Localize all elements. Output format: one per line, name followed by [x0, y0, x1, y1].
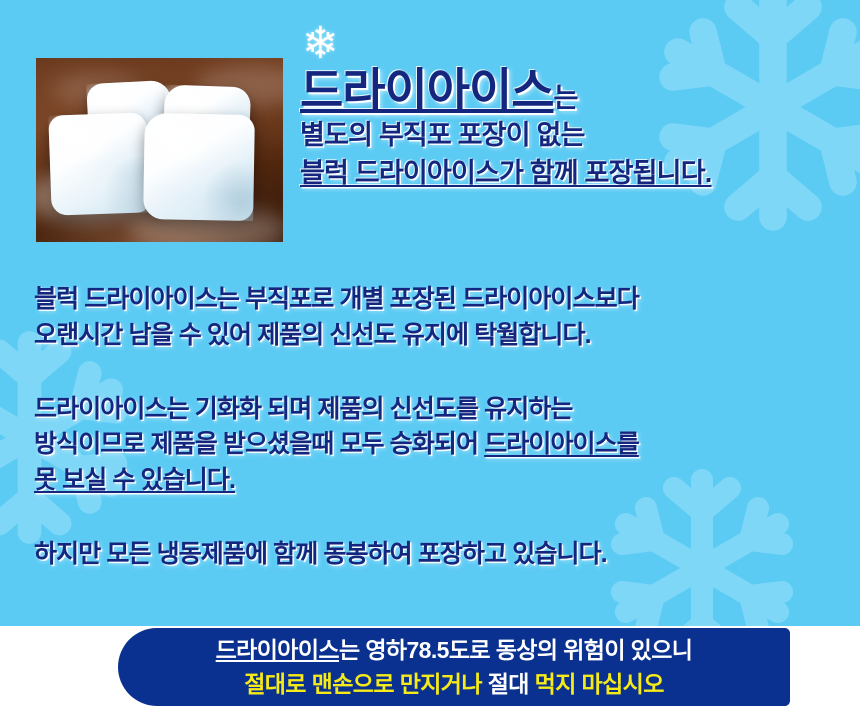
banner-background: ❄ 드라이아이스는 별도의 부직포 포장이 없는 블럭 드라이아이스가 함께 포… [0, 0, 860, 626]
warning-text: 절대로 맨손으로 만지거나 [244, 671, 488, 697]
body-text: 방식이므로 제품을 받으셨을때 모두 승화되어 [34, 430, 484, 458]
body-text-underlined: 드라이아이스를 [484, 430, 639, 458]
header-block: ❄ 드라이아이스는 별도의 부직포 포장이 없는 블럭 드라이아이스가 함께 포… [300, 24, 711, 192]
warning-line-2: 절대로 맨손으로 만지거나 절대 먹지 마십시오 [244, 667, 664, 701]
page-title: 드라이아이스는 [300, 66, 711, 116]
body-paragraph: 하지만 모든 냉동제품에 함께 동봉하여 포장하고 있습니다. [34, 537, 834, 573]
subtitle-line-2: 블럭 드라이아이스가 함께 포장됩니다. [300, 154, 711, 192]
dry-ice-info-banner: ❄ 드라이아이스는 별도의 부직포 포장이 없는 블럭 드라이아이스가 함께 포… [0, 0, 860, 716]
warning-bar: 드라이아이스는 영하78.5도로 동상의 위험이 있으니 절대로 맨손으로 만지… [118, 628, 790, 706]
body-paragraph: 블럭 드라이아이스는 부직포로 개별 포장된 드라이아이스보다오랜시간 남을 수… [34, 282, 834, 354]
body-text: 오랜시간 남을 수 있어 제품의 신선도 유지에 탁월합니다. [34, 321, 591, 349]
body-line: 하지만 모든 냉동제품에 함께 동봉하여 포장하고 있습니다. [34, 537, 834, 573]
warning-text: 드라이아이스 [216, 637, 339, 663]
warning-line-1: 드라이아이스는 영하78.5도로 동상의 위험이 있으니 [216, 633, 693, 667]
body-text: 블럭 드라이아이스는 부직포로 개별 포장된 드라이아이스보다 [34, 285, 639, 313]
body-paragraph: 드라이아이스는 기화화 되며 제품의 신선도를 유지하는방식이므로 제품을 받으… [34, 392, 834, 499]
body-text: 드라이아이스는 기화화 되며 제품의 신선도를 유지하는 [34, 395, 573, 423]
body-copy: 블럭 드라이아이스는 부직포로 개별 포장된 드라이아이스보다오랜시간 남을 수… [34, 282, 834, 573]
warning-text: 는 영하78.5도로 동상의 위험이 있으니 [339, 637, 692, 663]
body-line: 드라이아이스는 기화화 되며 제품의 신선도를 유지하는 [34, 392, 834, 428]
body-text: 하지만 모든 냉동제품에 함께 동봉하여 포장하고 있습니다. [34, 540, 607, 568]
warning-text: 먹지 마십시오 [529, 671, 664, 697]
body-text-underlined: 못 보실 수 있습니다. [34, 466, 235, 494]
page-title-main: 드라이아이스 [300, 64, 553, 117]
body-line: 방식이므로 제품을 받으셨을때 모두 승화되어 드라이아이스를 [34, 427, 834, 463]
subtitle-line-1: 별도의 부직포 포장이 없는 [300, 116, 711, 154]
dry-ice-photo [36, 58, 283, 242]
warning-text: 절대 [488, 671, 529, 697]
dry-ice-block [143, 113, 255, 221]
body-line: 못 보실 수 있습니다. [34, 463, 834, 499]
snowflake-icon: ❄ [302, 24, 711, 68]
body-line: 오랜시간 남을 수 있어 제품의 신선도 유지에 탁월합니다. [34, 318, 834, 354]
body-line: 블럭 드라이아이스는 부직포로 개별 포장된 드라이아이스보다 [34, 282, 834, 318]
page-title-suffix: 는 [553, 83, 577, 113]
